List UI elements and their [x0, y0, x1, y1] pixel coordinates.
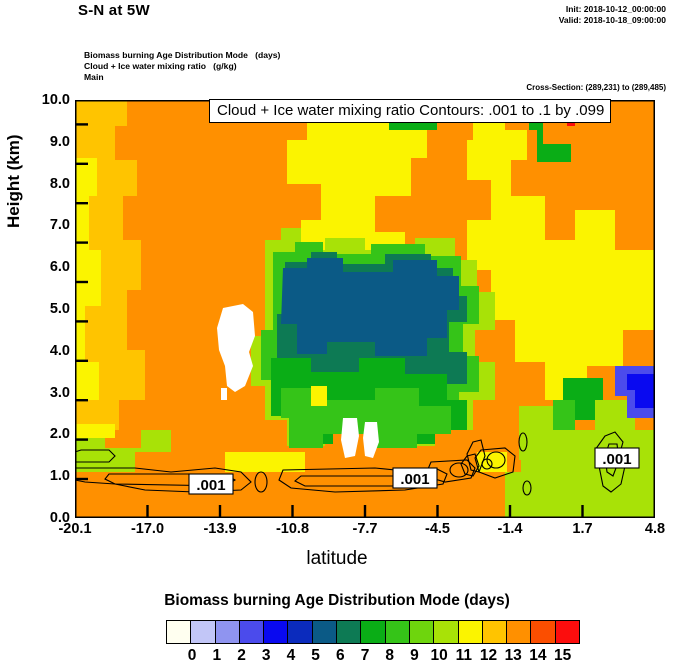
contour-label: .001	[196, 477, 225, 494]
contour-label: .001	[400, 471, 429, 488]
y-axis-tick: 2.0	[6, 426, 70, 442]
x-axis-tick: 4.8	[620, 521, 674, 537]
contour-label: .001	[602, 451, 631, 468]
colorbar-swatch	[434, 621, 458, 643]
y-axis-tick: 3.0	[6, 385, 70, 401]
x-axis-tick: -7.7	[330, 521, 400, 537]
colorbar-swatch	[361, 621, 385, 643]
colorbar-swatch	[483, 621, 507, 643]
x-axis-tick: -20.1	[40, 521, 110, 537]
x-axis-tick: -10.8	[258, 521, 328, 537]
colorbar-title: Biomass burning Age Distribution Mode (d…	[0, 592, 674, 610]
cross-section-label: Cross-Section: (289,231) to (289,485)	[526, 83, 666, 92]
colorbar-swatch	[313, 621, 337, 643]
x-axis-title: latitude	[0, 548, 674, 570]
y-axis-tick: 5.0	[6, 301, 70, 317]
colorbar-swatch	[240, 621, 264, 643]
y-axis-tick: 10.0	[6, 92, 70, 108]
colorbar-swatch	[264, 621, 288, 643]
colorbar-swatch	[337, 621, 361, 643]
valid-time-label: Valid: 2018-10-18_09:00:00	[559, 15, 666, 25]
colorbar-swatch	[531, 621, 555, 643]
colorbar-tick: 15	[543, 647, 583, 665]
y-axis-tick: 4.0	[6, 343, 70, 359]
colorbar-swatch	[386, 621, 410, 643]
colorbar-swatch	[288, 621, 312, 643]
y-axis-tick: 9.0	[6, 134, 70, 150]
colorbar-swatch	[191, 621, 215, 643]
x-axis-tick-labels: -20.1-17.0-13.9-10.8-7.7-4.5-1.41.74.8	[0, 521, 674, 543]
colorbar-tick-labels: 0123456789101112131415	[166, 647, 580, 669]
contour-title-box: Cloud + Ice water mixing ratio Contours:…	[209, 99, 611, 123]
colorbar-swatch	[167, 621, 191, 643]
y-axis-tick-labels: 0.01.02.03.04.05.06.07.08.09.010.0	[0, 0, 70, 668]
y-axis-tick: 6.0	[6, 259, 70, 275]
colorbar-swatch	[459, 621, 483, 643]
colorbar-swatch	[556, 621, 579, 643]
x-axis-tick: -13.9	[185, 521, 255, 537]
x-axis-tick: -17.0	[113, 521, 183, 537]
x-axis-tick: -1.4	[475, 521, 545, 537]
x-axis-tick: 1.7	[548, 521, 618, 537]
y-axis-tick: 8.0	[6, 176, 70, 192]
colorbar-swatch	[507, 621, 531, 643]
colorbar: 0123456789101112131415	[166, 620, 580, 669]
x-axis-tick: -4.5	[403, 521, 473, 537]
cross-section-plot: .001 .001 .001	[75, 100, 655, 518]
colorbar-swatch	[410, 621, 434, 643]
init-time-label: Init: 2018-10-12_00:00:00	[566, 4, 666, 14]
filled-contour-field: .001 .001 .001	[75, 100, 655, 518]
page-title: S-N at 5W	[78, 2, 150, 19]
y-axis-tick: 1.0	[6, 468, 70, 484]
y-axis-tick: 7.0	[6, 217, 70, 233]
colorbar-swatch	[216, 621, 240, 643]
colorbar-swatches	[166, 620, 580, 644]
subtitle-block: Biomass burning Age Distribution Mode (d…	[84, 50, 280, 84]
